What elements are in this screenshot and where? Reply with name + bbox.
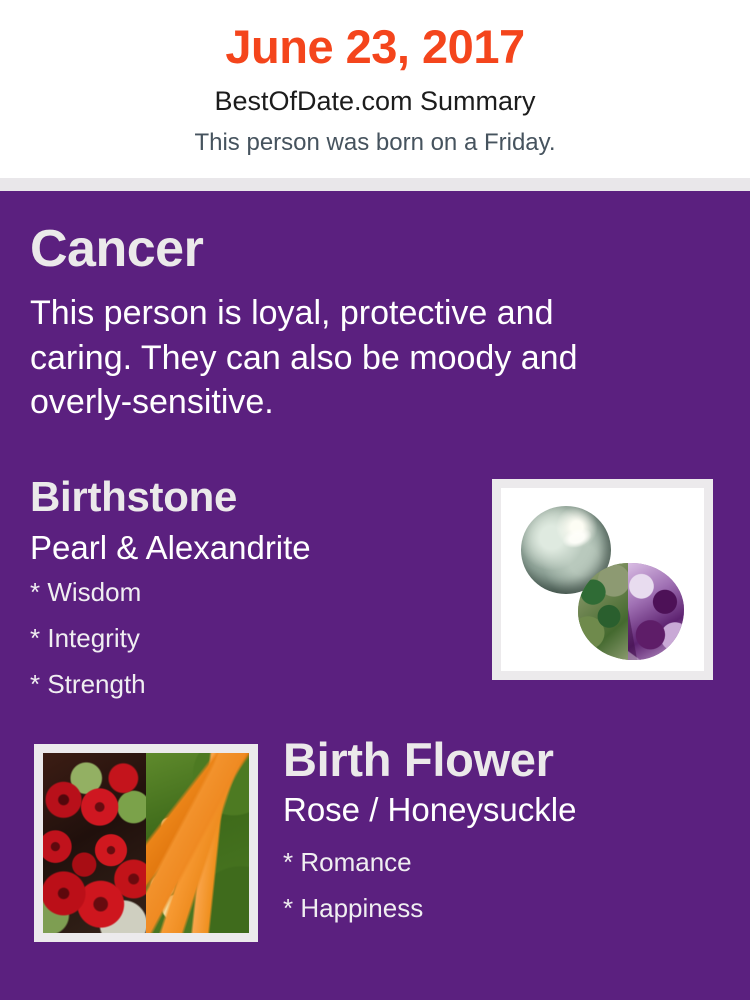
birthstone-heading: Birthstone bbox=[30, 476, 237, 518]
birth-flower-image-frame bbox=[34, 744, 258, 942]
birthstone-image-frame bbox=[492, 479, 713, 680]
list-item: * Integrity bbox=[30, 625, 146, 651]
birth-flower-value: Rose / Honeysuckle bbox=[283, 793, 576, 828]
honeysuckle-icon bbox=[146, 753, 249, 933]
alexandrite-rough-half bbox=[578, 563, 628, 660]
alexandrite-faceted-half bbox=[628, 563, 684, 660]
list-item: * Strength bbox=[30, 671, 146, 697]
rose-icon bbox=[43, 753, 146, 933]
zodiac-sign-heading: Cancer bbox=[30, 223, 203, 275]
birthstone-trait-list: * Wisdom * Integrity * Strength bbox=[30, 579, 146, 717]
birth-flower-heading: Birth Flower bbox=[283, 736, 554, 783]
summary-card: June 23, 2017 BestOfDate.com Summary Thi… bbox=[0, 0, 750, 1000]
header: June 23, 2017 BestOfDate.com Summary Thi… bbox=[0, 0, 750, 178]
list-item: * Wisdom bbox=[30, 579, 146, 605]
birth-flower-trait-list: * Romance * Happiness bbox=[283, 849, 423, 941]
details-panel: Cancer This person is loyal, protective … bbox=[0, 191, 750, 1000]
zodiac-description: This person is loyal, protective and car… bbox=[30, 291, 650, 425]
page-title: June 23, 2017 bbox=[0, 22, 750, 73]
birth-flower-image bbox=[43, 753, 249, 933]
alexandrite-gem-icon bbox=[578, 563, 684, 660]
rose-photo-half bbox=[43, 753, 146, 933]
list-item: * Romance bbox=[283, 849, 423, 875]
birthstone-value: Pearl & Alexandrite bbox=[30, 531, 311, 566]
born-weekday-text: This person was born on a Friday. bbox=[0, 129, 750, 157]
list-item: * Happiness bbox=[283, 895, 423, 921]
site-subtitle: BestOfDate.com Summary bbox=[0, 86, 750, 117]
header-divider bbox=[0, 178, 750, 191]
birthstone-image bbox=[501, 488, 704, 671]
honeysuckle-photo-half bbox=[146, 753, 249, 933]
